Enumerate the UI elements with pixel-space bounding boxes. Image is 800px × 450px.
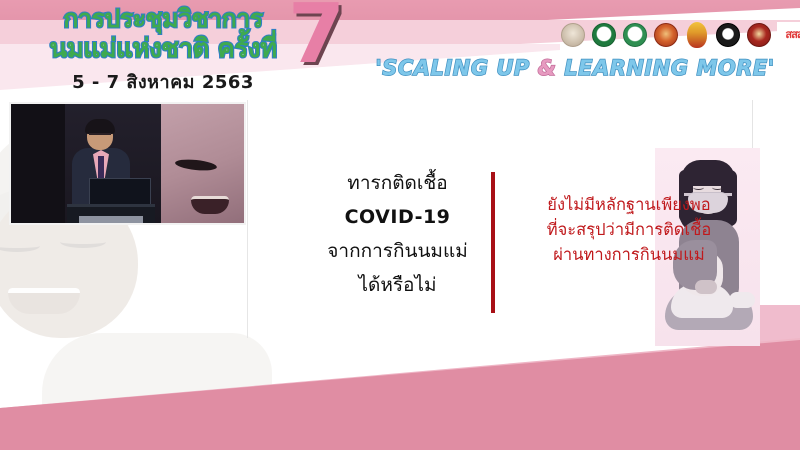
conference-title-line1: การประชุมวิชาการ	[18, 4, 308, 34]
baby-screen-image	[161, 104, 246, 225]
logo-thaihealth-text: สสส	[777, 22, 800, 46]
conference-header: การประชุมวิชาการ นมแม่แห่งชาติ ครั้งที่ …	[0, 0, 800, 100]
presentation-slide: การประชุมวิชาการ นมแม่แห่งชาติ ครั้งที่ …	[0, 0, 800, 450]
question-line-4: ได้หรือไม่	[310, 268, 485, 302]
question-line-1: ทารกติดเชื้อ	[310, 166, 485, 200]
question-line-3: จากการกินนมแม่	[310, 234, 485, 268]
speaker-video[interactable]	[9, 102, 246, 225]
answer-line-2: ที่จะสรุปว่ามีการติดเชื้อ	[498, 217, 760, 242]
question-line-2: COVID-19	[310, 200, 485, 234]
red-vertical-divider	[491, 172, 495, 313]
tagline-part-two: LEARNING MORE'	[556, 56, 774, 80]
conference-date: 5 - 7 สิงหาคม 2563	[18, 67, 308, 96]
answer-text-block: ยังไม่มีหลักฐานเพียงพอ ที่จะสรุปว่ามีการ…	[498, 192, 760, 267]
question-text-block: ทารกติดเชื้อ COVID-19 จากการกินนมแม่ ได้…	[310, 166, 485, 302]
tagline-part-one: 'SCALING UP	[375, 56, 537, 80]
conference-title-line2: นมแม่แห่งชาติ ครั้งที่	[18, 34, 308, 64]
logo-royal-emblem	[560, 22, 586, 48]
logo-thaihealth: สสส	[777, 22, 800, 48]
logo-black-circular-emblem	[715, 22, 741, 48]
glasses-icon	[89, 133, 111, 138]
tagline-ampersand: &	[538, 56, 557, 80]
vertical-divider-left	[247, 100, 248, 338]
logo-thai-crown-emblem	[684, 22, 710, 48]
answer-line-3: ผ่านทางการกินนมแม่	[498, 242, 760, 267]
logo-department-health	[622, 22, 648, 48]
answer-line-1: ยังไม่มีหลักฐานเพียงพอ	[498, 192, 760, 217]
logo-red-circular-emblem	[653, 22, 679, 48]
logo-ministry-public-health	[591, 22, 617, 48]
slide-canvas: ทารกติดเชื้อ COVID-19 จากการกินนมแม่ ได้…	[0, 100, 800, 450]
conference-title: การประชุมวิชาการ นมแม่แห่งชาติ ครั้งที่ …	[18, 4, 308, 96]
conference-tagline: 'SCALING UP & LEARNING MORE'	[360, 56, 790, 80]
edition-number: 7	[288, 0, 345, 76]
logo-dark-red-emblem	[746, 22, 772, 48]
sponsor-logos: สสส	[560, 22, 800, 48]
